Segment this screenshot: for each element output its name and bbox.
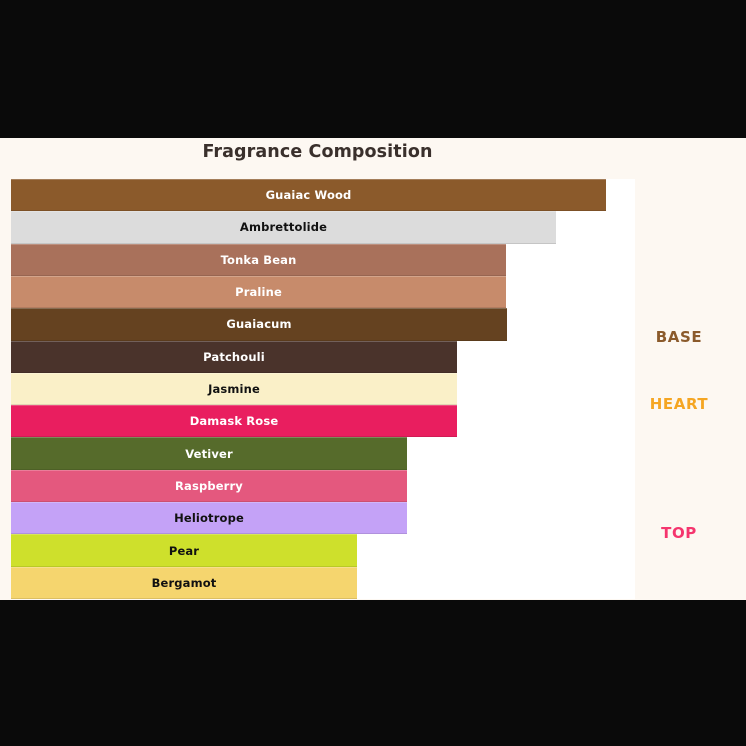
bar-praline[interactable]: Praline [11, 276, 506, 308]
bar-label: Bergamot [152, 576, 217, 590]
bar-label: Raspberry [175, 479, 243, 493]
chart-figure: Fragrance Composition Guaiac WoodAmbrett… [0, 138, 746, 600]
bar-label: Damask Rose [190, 414, 279, 428]
stage-label-heart: HEART [650, 395, 709, 413]
page-title: Fragrance Composition [0, 142, 635, 162]
bar-label: Guaiac Wood [266, 188, 352, 202]
bar-tonka-bean[interactable]: Tonka Bean [11, 244, 506, 276]
bar-guaiac-wood[interactable]: Guaiac Wood [11, 179, 606, 211]
bar-label: Ambrettolide [240, 220, 327, 234]
plot-area: Guaiac WoodAmbrettolideTonka BeanPraline… [11, 179, 635, 599]
bar-guaiacum[interactable]: Guaiacum [11, 308, 507, 340]
bar-label: Jasmine [208, 382, 260, 396]
bar-raspberry[interactable]: Raspberry [11, 470, 407, 502]
bar-bergamot[interactable]: Bergamot [11, 567, 357, 599]
bar-label: Guaiacum [226, 317, 291, 331]
screenshot-root: Fragrance Composition Guaiac WoodAmbrett… [0, 0, 746, 746]
bar-label: Heliotrope [174, 511, 244, 525]
bar-damask-rose[interactable]: Damask Rose [11, 405, 457, 437]
bar-label: Vetiver [185, 447, 233, 461]
bar-pear[interactable]: Pear [11, 534, 357, 566]
bar-heliotrope[interactable]: Heliotrope [11, 502, 407, 534]
bar-jasmine[interactable]: Jasmine [11, 373, 457, 405]
bar-label: Patchouli [203, 350, 265, 364]
bar-label: Pear [169, 544, 199, 558]
stage-label-base: BASE [656, 328, 703, 346]
bar-label: Tonka Bean [221, 253, 297, 267]
bar-patchouli[interactable]: Patchouli [11, 341, 457, 373]
stage-label-top: TOP [661, 524, 697, 542]
bar-ambrettolide[interactable]: Ambrettolide [11, 211, 556, 243]
bar-vetiver[interactable]: Vetiver [11, 437, 407, 469]
bar-label: Praline [235, 285, 282, 299]
